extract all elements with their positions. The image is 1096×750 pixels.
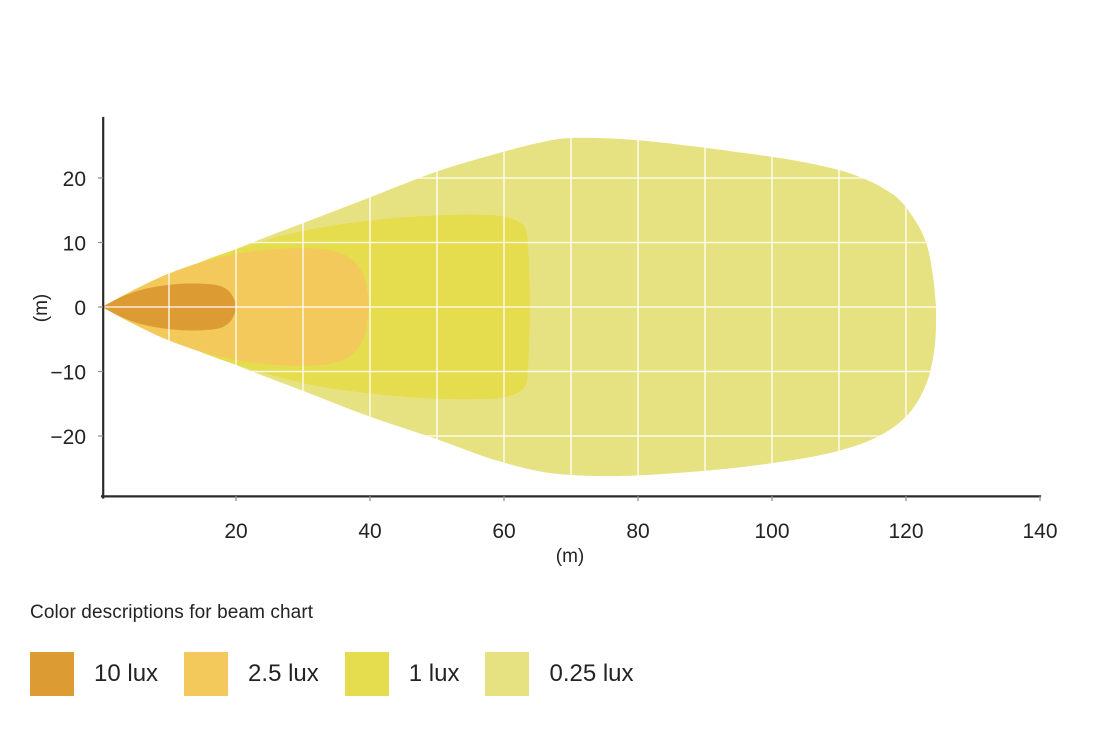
legend-entry: 2.5 lux — [184, 652, 319, 696]
legend-color-swatch — [30, 652, 74, 696]
x-tick-label: 20 — [224, 520, 247, 543]
x-axis-title: (m) — [556, 546, 584, 567]
y-tick-label: −10 — [50, 362, 86, 385]
x-tick-label: 140 — [1022, 520, 1057, 543]
legend-color-swatch — [485, 652, 529, 696]
y-tick-label: 10 — [63, 233, 86, 256]
legend-caption: Color descriptions for beam chart — [30, 602, 1070, 624]
x-tick-label: 120 — [888, 520, 923, 543]
y-tick-label: 20 — [63, 168, 86, 191]
y-axis-title: (m) — [31, 294, 52, 322]
legend-entry: 1 lux — [345, 652, 460, 696]
legend: Color descriptions for beam chart 10 lux… — [30, 602, 1070, 696]
x-tick-label: 40 — [358, 520, 381, 543]
x-tick-label: 100 — [754, 520, 789, 543]
legend-label: 1 lux — [409, 660, 460, 688]
legend-label: 2.5 lux — [248, 660, 319, 688]
legend-color-swatch — [345, 652, 389, 696]
grid-layer — [102, 118, 1040, 496]
legend-items: 10 lux2.5 lux1 lux0.25 lux — [30, 652, 1070, 696]
legend-entry: 10 lux — [30, 652, 158, 696]
legend-color-swatch — [184, 652, 228, 696]
legend-label: 0.25 lux — [549, 660, 633, 688]
legend-label: 10 lux — [94, 660, 158, 688]
beam-chart: 2040608010012014020100−10−20 (m) (m) — [0, 0, 1096, 590]
x-tick-label: 60 — [492, 520, 515, 543]
beam-chart-canvas: 2040608010012014020100−10−20 (m) (m) — [0, 0, 1096, 590]
y-tick-label: −20 — [50, 426, 86, 449]
x-tick-label: 80 — [626, 520, 649, 543]
legend-entry: 0.25 lux — [485, 652, 633, 696]
y-tick-label: 0 — [74, 297, 86, 320]
